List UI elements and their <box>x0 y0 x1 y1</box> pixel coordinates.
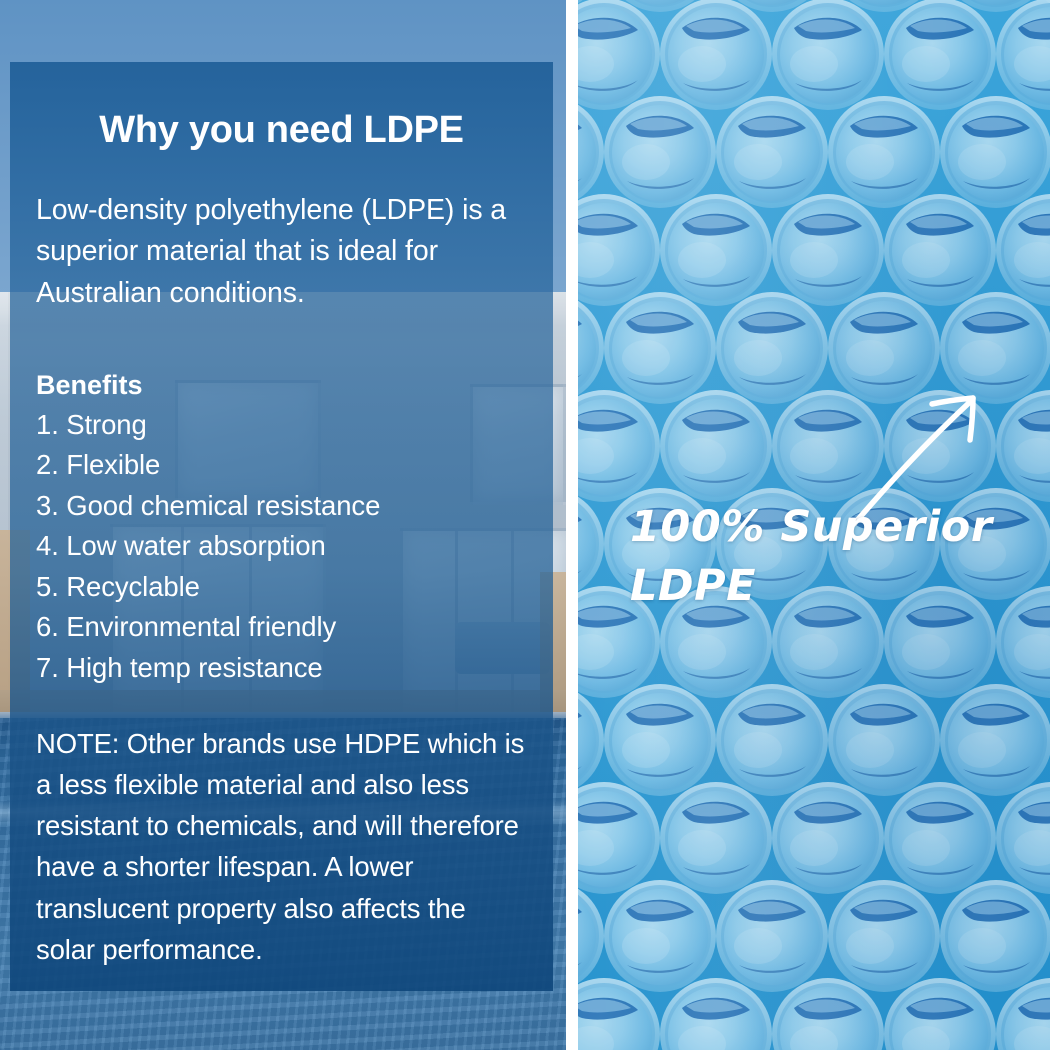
superior-ldpe-annotation: 100% Superior LDPE <box>630 498 1050 617</box>
list-item: 6. Environmental friendly <box>36 607 527 648</box>
list-item: 5. Recyclable <box>36 567 527 608</box>
page-title: Why you need LDPE <box>36 62 527 152</box>
info-card: Why you need LDPE Low-density polyethyle… <box>10 62 553 991</box>
list-item: 7. High temp resistance <box>36 648 527 689</box>
annotation-line-1: 100% Superior <box>630 498 1050 557</box>
list-item: 1. Strong <box>36 405 527 446</box>
intro-paragraph: Low-density polyethylene (LDPE) is a sup… <box>36 152 527 315</box>
note-paragraph: NOTE: Other brands use HDPE which is a l… <box>36 689 527 971</box>
benefits-list: 1. Strong 2. Flexible 3. Good chemical r… <box>36 401 527 689</box>
list-item: 2. Flexible <box>36 445 527 486</box>
benefits-heading: Benefits <box>36 315 527 401</box>
left-panel: Why you need LDPE Low-density polyethyle… <box>0 0 566 1050</box>
infographic-root: Why you need LDPE Low-density polyethyle… <box>0 0 1050 1050</box>
panel-divider <box>566 0 578 1050</box>
annotation-line-2: LDPE <box>630 557 1050 616</box>
list-item: 4. Low water absorption <box>36 526 527 567</box>
list-item: 3. Good chemical resistance <box>36 486 527 527</box>
